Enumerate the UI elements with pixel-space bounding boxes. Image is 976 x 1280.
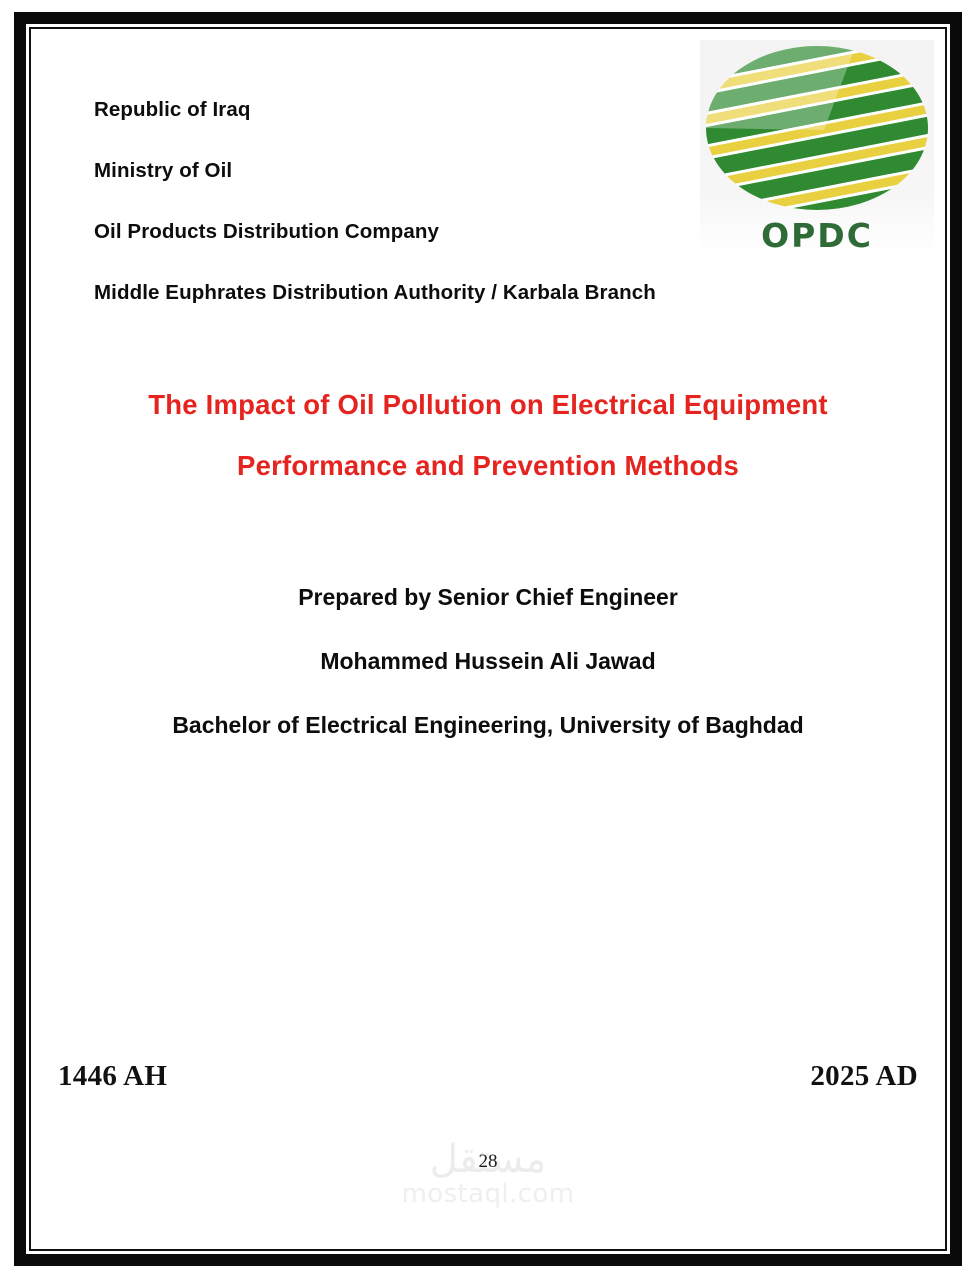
author-credentials: Bachelor of Electrical Engineering, Univ…: [40, 714, 936, 737]
date-gregorian: 2025 AD: [810, 1060, 918, 1093]
org-line-company: Oil Products Distribution Company: [94, 220, 794, 244]
title-line-1: The Impact of Oil Pollution on Electrica…: [148, 389, 827, 420]
document-page: OPDC Republic of Iraq Ministry of Oil Oi…: [0, 0, 976, 1280]
org-line-ministry: Ministry of Oil: [94, 159, 794, 183]
page-number: 28: [479, 1152, 498, 1171]
author-role: Prepared by Senior Chief Engineer: [40, 586, 936, 609]
author-block: Prepared by Senior Chief Engineer Mohamm…: [40, 586, 936, 737]
date-hijri: 1446 AH: [58, 1060, 167, 1093]
page-title: The Impact of Oil Pollution on Electrica…: [40, 374, 936, 496]
org-line-branch: Middle Euphrates Distribution Authority …: [94, 281, 794, 305]
author-name: Mohammed Hussein Ali Jawad: [40, 650, 936, 673]
date-row: 1446 AH 2025 AD: [58, 1060, 918, 1093]
organization-header: Republic of Iraq Ministry of Oil Oil Pro…: [94, 98, 794, 305]
title-line-2: Performance and Prevention Methods: [40, 435, 936, 496]
org-line-country: Republic of Iraq: [94, 98, 794, 122]
page-content: OPDC Republic of Iraq Ministry of Oil Oi…: [40, 38, 936, 1240]
